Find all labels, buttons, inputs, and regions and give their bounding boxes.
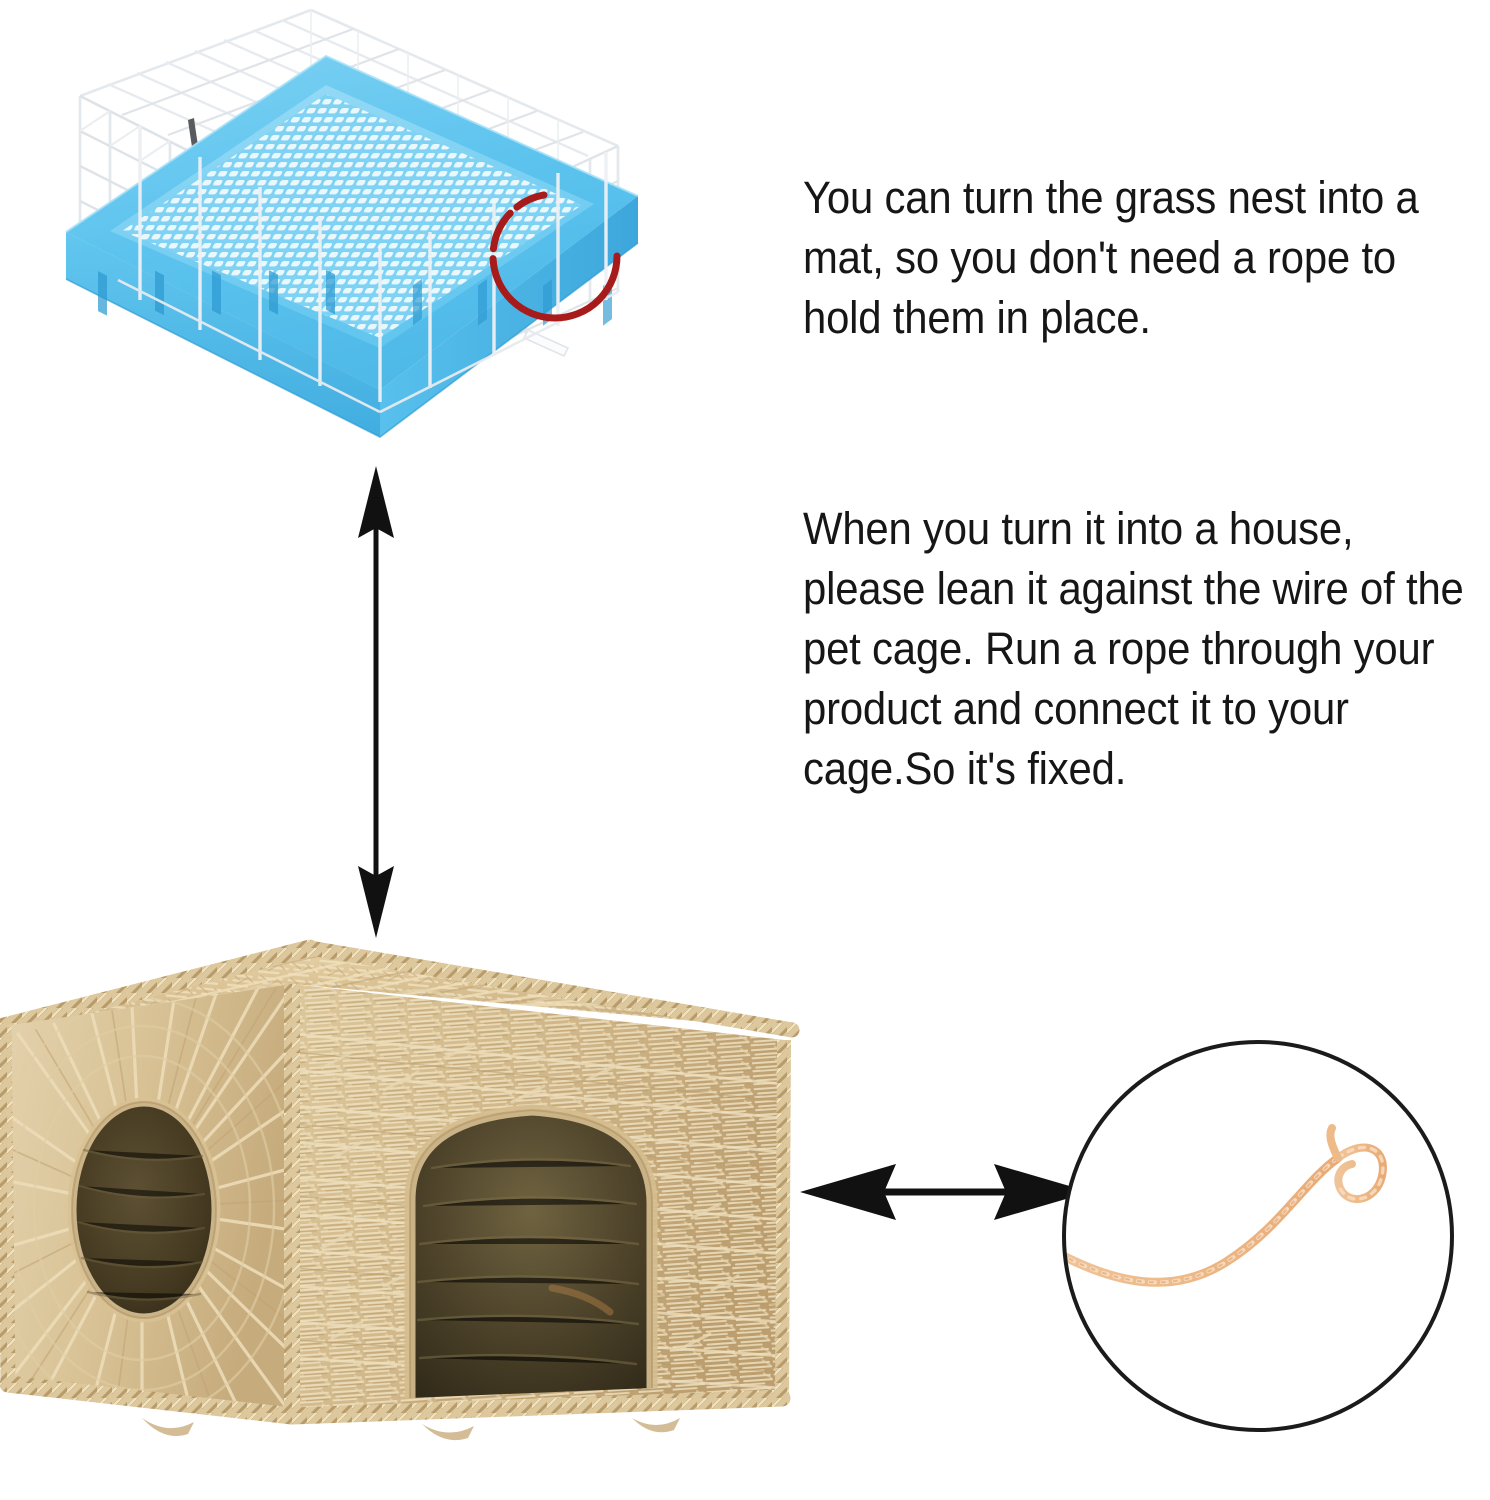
grass-house-illustration	[0, 918, 812, 1500]
horizontal-double-arrow	[800, 1152, 1090, 1232]
house-left-face	[0, 984, 298, 1418]
house-right-edge	[782, 1040, 784, 1398]
caption-top-text: You can turn the grass nest into a mat, …	[803, 168, 1454, 348]
cage-door-handle-icon	[524, 330, 568, 356]
vertical-double-arrow-icon	[352, 466, 400, 938]
caption-bottom-text: When you turn it into a house, please le…	[803, 499, 1465, 799]
house-front-face	[282, 968, 802, 1438]
horizontal-double-arrow-icon	[800, 1152, 1090, 1232]
rope-inset-illustration	[1052, 1030, 1464, 1442]
pet-cage-figure	[58, 0, 698, 460]
rope-closeup-inset	[1052, 1030, 1464, 1442]
infographic-canvas: You can turn the grass nest into a mat, …	[0, 0, 1490, 1500]
house-back-left-edge	[4, 1026, 8, 1384]
grass-house-figure	[0, 918, 812, 1500]
vertical-double-arrow	[352, 466, 400, 938]
pet-cage-illustration	[58, 0, 698, 460]
